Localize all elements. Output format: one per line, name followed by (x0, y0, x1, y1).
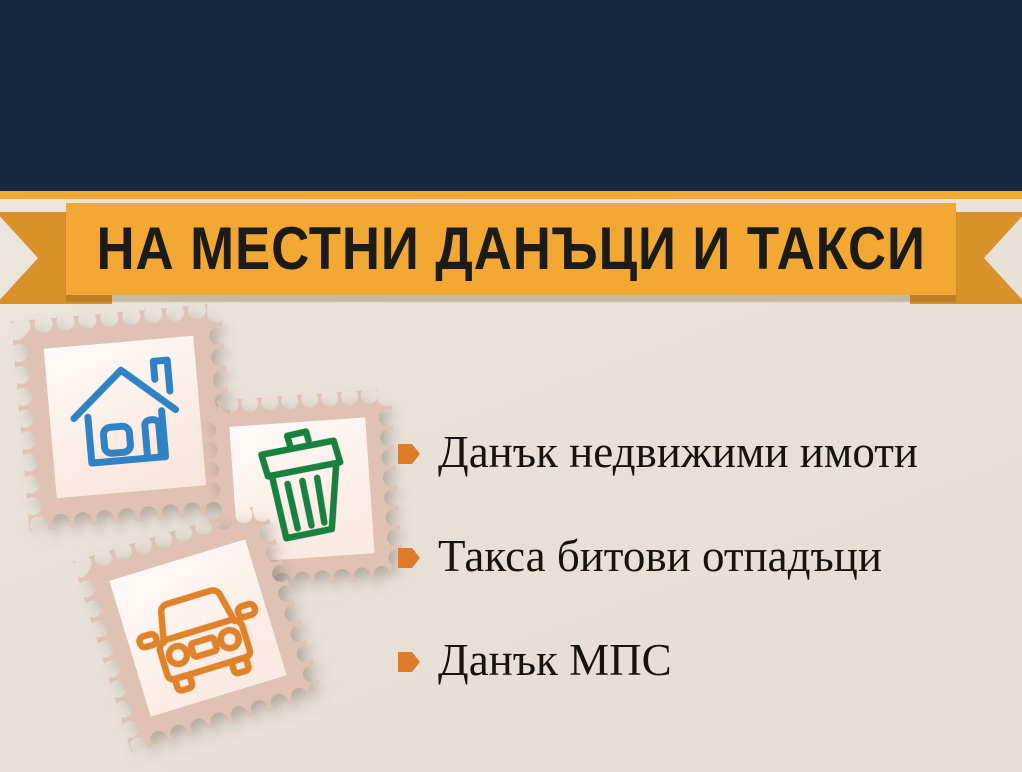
list-item[interactable]: Данък МПС (398, 632, 1013, 688)
subtitle-ribbon: НА МЕСТНИ ДАНЪЦИ И ТАКСИ (0, 199, 1022, 307)
list-item[interactable]: Данък недвижими имоти (398, 424, 1013, 480)
tax-types-list: Данък недвижими имоти Такса битови отпад… (398, 424, 1013, 688)
list-item-label: Данък недвижими имоти (438, 427, 918, 477)
ribbon-text: НА МЕСТНИ ДАНЪЦИ И ТАКСИ (96, 219, 925, 279)
ribbon-banner: НА МЕСТНИ ДАНЪЦИ И ТАКСИ (66, 203, 956, 295)
poster-canvas: община ЕЛИН ПЕЛИН ПРОВЕРКА И ПЛАЩАНЕ НА … (0, 0, 1022, 772)
list-item-label: Такса битови отпадъци (438, 531, 882, 581)
list-item[interactable]: Такса битови отпадъци (398, 528, 1013, 584)
arrow-right-bullet-icon (398, 441, 420, 467)
arrow-right-bullet-icon (398, 649, 420, 675)
list-item-label: Данък МПС (438, 635, 672, 685)
arrow-right-bullet-icon (398, 545, 420, 571)
header-bar (0, 0, 1022, 191)
header-accent-line (0, 191, 1022, 199)
